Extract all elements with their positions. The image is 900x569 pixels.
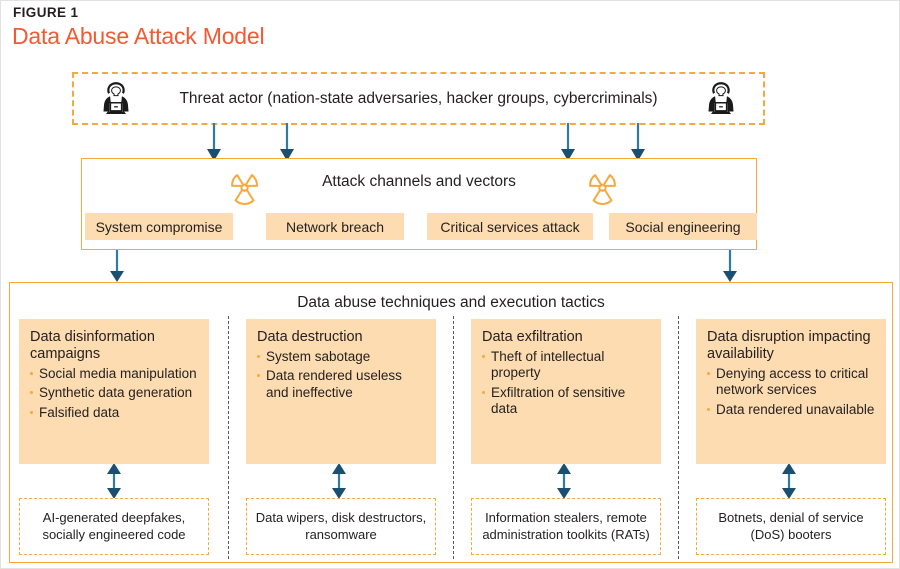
technique-card-title: Data destruction (257, 329, 427, 346)
tool-box-destruction[interactable]: Data wipers, disk destructors, ransomwar… (246, 498, 436, 555)
technique-bullet: Data rendered unavailable (707, 402, 877, 418)
technique-card-exfiltration[interactable]: Data exfiltration Theft of intellectual … (471, 319, 661, 464)
column-divider (228, 316, 229, 559)
channel-chip-network-breach[interactable]: Network breach (266, 213, 404, 240)
technique-bullet-list: System sabotage Data rendered useless an… (257, 349, 427, 401)
technique-card-title: Data exfiltration (482, 329, 652, 346)
technique-bullet: Social media manipulation (30, 366, 200, 382)
technique-bullet: Synthetic data generation (30, 385, 200, 401)
column-divider (678, 316, 679, 559)
radiation-icon (584, 170, 621, 207)
technique-card-disruption[interactable]: Data disruption impacting availability D… (696, 319, 886, 464)
technique-bullet: System sabotage (257, 349, 427, 365)
tool-box-exfiltration[interactable]: Information stealers, remote administrat… (471, 498, 661, 555)
technique-card-title: Data disinformation campaigns (30, 329, 200, 363)
technique-bullet: Theft of intellectual property (482, 349, 652, 382)
figure-label: FIGURE 1 (13, 5, 78, 20)
threat-actor-label: Threat actor (nation-state adversaries, … (74, 90, 763, 108)
channel-chip-critical-services-attack[interactable]: Critical services attack (427, 213, 593, 240)
tool-box-disinformation[interactable]: AI-generated deepfakes, socially enginee… (19, 498, 209, 555)
technique-bullet: Data rendered useless and ineffective (257, 368, 427, 401)
arrow-threat-to-channels (1, 121, 900, 163)
page-title: Data Abuse Attack Model (12, 23, 264, 50)
technique-card-title: Data disruption impacting availability (707, 329, 877, 363)
technique-card-disinformation[interactable]: Data disinformation campaigns Social med… (19, 319, 209, 464)
threat-actor-box: Threat actor (nation-state adversaries, … (72, 72, 765, 125)
arrow-channels-to-techniques (1, 250, 900, 286)
techniques-title: Data abuse techniques and execution tact… (10, 294, 892, 312)
technique-card-destruction[interactable]: Data destruction System sabotage Data re… (246, 319, 436, 464)
hacker-icon (701, 79, 741, 119)
technique-bullet: Denying access to critical network servi… (707, 366, 877, 399)
attack-channels-title: Attack channels and vectors (82, 173, 756, 191)
tool-box-disruption[interactable]: Botnets, denial of service (DoS) booters (696, 498, 886, 555)
technique-bullet-list: Social media manipulation Synthetic data… (30, 366, 200, 421)
channel-chip-social-engineering[interactable]: Social engineering (609, 213, 757, 240)
technique-bullet-list: Theft of intellectual property Exfiltrat… (482, 349, 652, 418)
technique-bullet-list: Denying access to critical network servi… (707, 366, 877, 418)
technique-bullet: Exfiltration of sensitive data (482, 385, 652, 418)
channel-chip-system-compromise[interactable]: System compromise (85, 213, 233, 240)
figure-container: FIGURE 1 Data Abuse Attack Model Threat … (0, 0, 900, 569)
column-divider (453, 316, 454, 559)
arrow-card-to-toolbox-group (1, 464, 900, 498)
technique-bullet: Falsified data (30, 405, 200, 421)
